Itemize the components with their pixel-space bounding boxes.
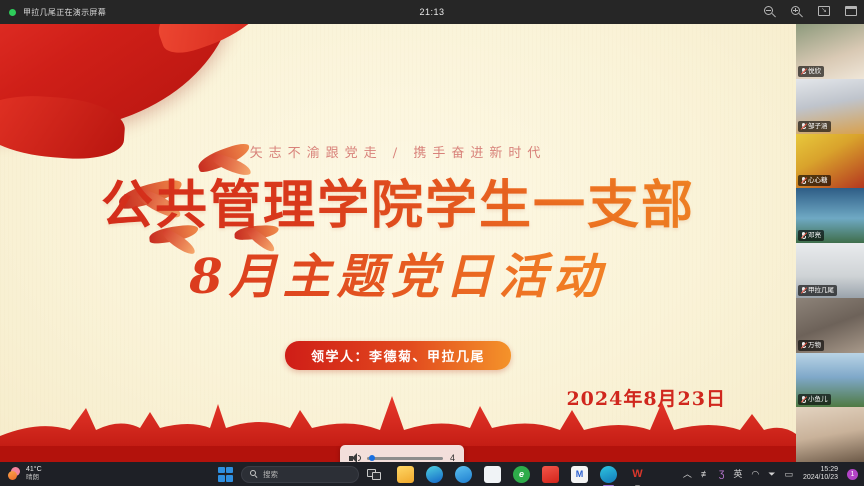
wifi-icon[interactable]: ◠: [751, 469, 759, 479]
search-placeholder: 搜索: [263, 469, 278, 480]
clock[interactable]: 15:29 2024/10/23: [803, 466, 838, 483]
taskbar-app-list: e M W: [397, 466, 646, 483]
participant-tile[interactable]: 邹子涵: [796, 79, 864, 134]
system-tray: ︿ ≢ Ʒ 英 ◠ ⏷ ▭ 15:29 2024/10/23 1: [683, 466, 858, 483]
battery-icon[interactable]: ▭: [784, 469, 793, 479]
mic-muted-icon: [801, 232, 806, 239]
tencent-meeting-icon[interactable]: [600, 466, 617, 483]
mic-muted-icon: [801, 177, 806, 184]
speaker-icon: [349, 453, 360, 463]
microsoft-store-icon[interactable]: [484, 466, 501, 483]
search-input[interactable]: 搜索: [241, 466, 359, 483]
exit-fullscreen-icon[interactable]: ↘: [818, 6, 831, 19]
slide-main-title: 公共管理学院学生一支部: [0, 176, 796, 236]
mic-muted-icon: [801, 396, 806, 403]
input-method-language-icon[interactable]: 英: [733, 469, 742, 479]
participant-tile[interactable]: 小鱼儿: [796, 353, 864, 408]
slide-subtitle: 8月主题党日活动: [0, 248, 796, 306]
start-button[interactable]: [218, 467, 233, 482]
participant-name-tag: 小鱼儿: [798, 394, 831, 405]
participant-tile[interactable]: 悦欣: [796, 24, 864, 79]
participant-tile[interactable]: 心心糖: [796, 134, 864, 189]
participant-name-tag: 邹子涵: [798, 121, 831, 132]
slide-leader-badge: 领学人：李德菊、甲拉几尾: [285, 341, 511, 370]
participant-name-tag: 邓亮: [798, 230, 824, 241]
mindmaster-icon[interactable]: M: [571, 466, 588, 483]
search-icon: [250, 470, 258, 478]
netease-music-icon[interactable]: [542, 466, 559, 483]
volume-slider-knob[interactable]: [369, 455, 375, 461]
edge-browser-icon[interactable]: [426, 466, 443, 483]
volume-value: 4: [450, 453, 455, 462]
shared-screen-slide[interactable]: 矢志不渝跟党走 / 携手奋进新时代 公共管理学院学生一支部 8月主题党日活动 领…: [0, 24, 796, 462]
wps-office-icon[interactable]: W: [629, 466, 646, 483]
participant-tile[interactable]: 万物: [796, 298, 864, 353]
participant-tile[interactable]: 甲拉几尾: [796, 243, 864, 298]
participant-name-tag: 悦欣: [798, 66, 824, 77]
clock-date: 2024/10/23: [803, 474, 838, 483]
windows-taskbar: 41°C 晴朗 搜索 e M W ︿: [0, 462, 864, 486]
meeting-view-controls: ↘: [764, 0, 858, 24]
screen: 甲拉几尾正在演示屏幕 21:13 ↘: [0, 0, 864, 486]
volume-popup[interactable]: 4: [340, 445, 464, 462]
mic-muted-icon: [801, 342, 806, 349]
participant-video-rail[interactable]: 悦欣 邹子涵 心心糖 邓亮: [796, 24, 864, 462]
mic-muted-icon: [801, 123, 806, 130]
meeting-timer: 21:13: [0, 7, 864, 17]
slide-slogan: 矢志不渝跟党走 / 携手奋进新时代: [0, 142, 796, 161]
clock-time: 15:29: [820, 466, 838, 475]
microphone-icon[interactable]: Ʒ: [719, 469, 725, 479]
task-view-button[interactable]: [367, 469, 381, 480]
file-explorer-icon[interactable]: [397, 466, 414, 483]
sogou-browser-icon[interactable]: e: [513, 466, 530, 483]
show-hidden-icons-chevron[interactable]: ︿: [683, 469, 692, 479]
ime-toolbar-icon[interactable]: ≢: [701, 469, 710, 479]
layout-icon[interactable]: [845, 6, 858, 19]
participant-name-tag: 心心糖: [798, 175, 831, 186]
volume-slider[interactable]: [367, 457, 443, 460]
zoom-out-icon[interactable]: [764, 6, 777, 19]
participant-tile[interactable]: [796, 407, 864, 462]
participant-name-tag: 甲拉几尾: [798, 285, 837, 296]
weather-cloud-icon[interactable]: [455, 466, 472, 483]
meeting-top-bar: 甲拉几尾正在演示屏幕 21:13 ↘: [0, 0, 864, 24]
participant-tile[interactable]: 邓亮: [796, 188, 864, 243]
volume-muted-icon[interactable]: ⏷: [768, 469, 775, 479]
zoom-in-icon[interactable]: [791, 6, 804, 19]
notification-badge[interactable]: 1: [847, 469, 858, 480]
mic-muted-icon: [801, 287, 806, 294]
mic-muted-icon: [801, 68, 806, 75]
participant-name-tag: 万物: [798, 340, 824, 351]
